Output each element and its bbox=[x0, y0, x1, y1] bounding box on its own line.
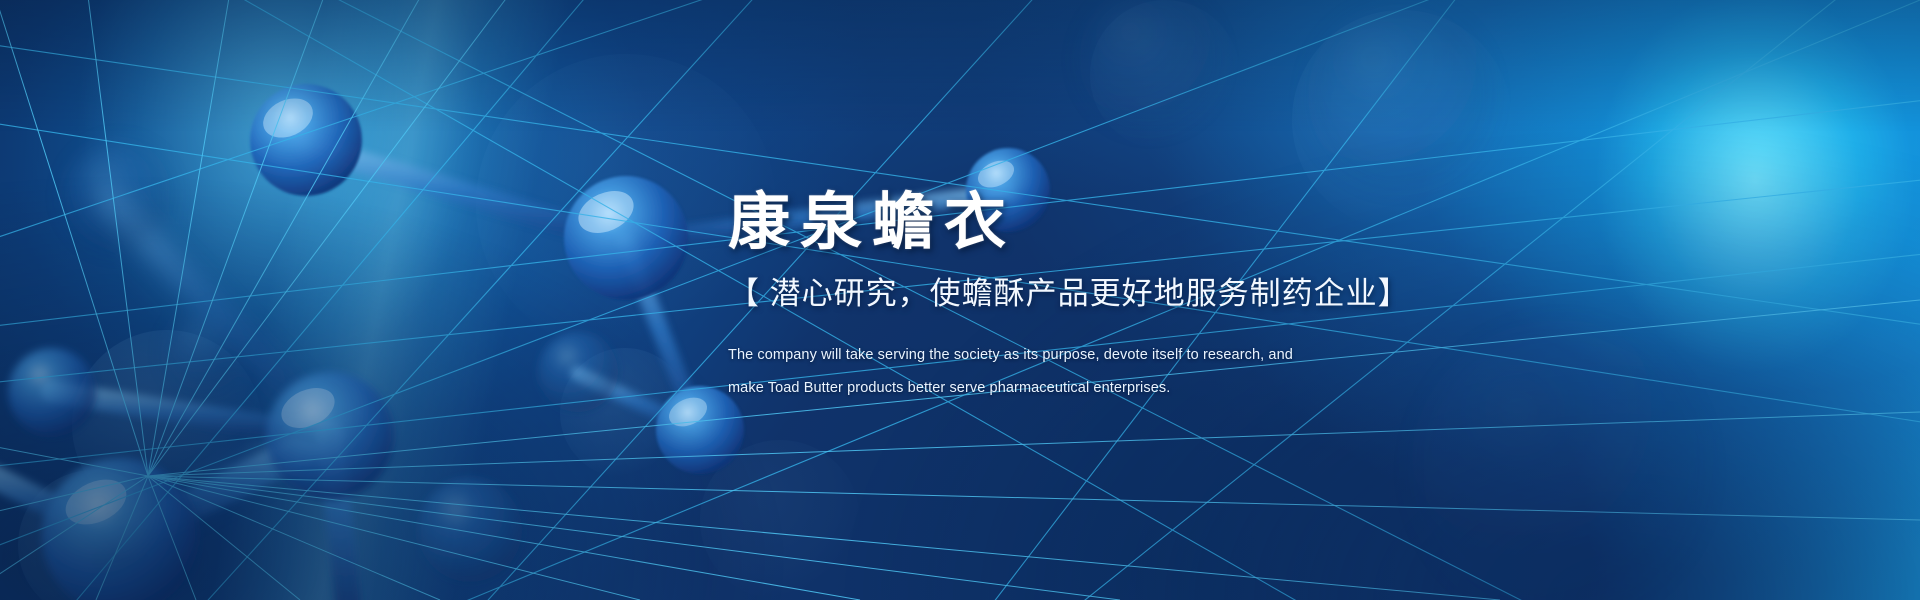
brand-description-line-2: make Toad Butter products better serve p… bbox=[728, 377, 1628, 399]
page-title: 康泉蟾衣 bbox=[728, 192, 1628, 254]
brand-description: The company will take serving the societ… bbox=[728, 344, 1628, 400]
hero-banner: 康泉蟾衣 【 潜心研究，使蟾酥产品更好地服务制药企业】 The company … bbox=[0, 0, 1920, 600]
brand-description-line-1: The company will take serving the societ… bbox=[728, 344, 1628, 366]
brand-slogan: 【 潜心研究，使蟾酥产品更好地服务制药企业】 bbox=[728, 276, 1628, 312]
hero-text-block: 康泉蟾衣 【 潜心研究，使蟾酥产品更好地服务制药企业】 The company … bbox=[728, 192, 1628, 400]
